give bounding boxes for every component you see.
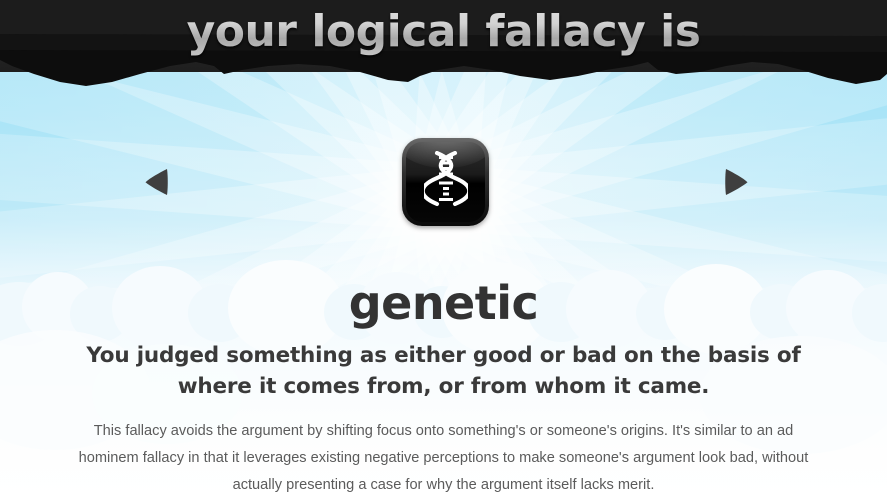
fallacy-card: your logical fallacy is (0, 0, 887, 498)
header-banner: your logical fallacy is (0, 0, 887, 90)
fallacy-description: You judged something as either good or b… (59, 340, 829, 402)
fallacy-badge[interactable] (402, 138, 489, 226)
badge-frame (402, 138, 489, 226)
badge-face (406, 142, 485, 222)
rock-torn-edge (0, 0, 887, 90)
next-fallacy-button[interactable] (719, 168, 753, 200)
triangle-left-icon (144, 168, 170, 201)
fallacy-name: genetic (0, 272, 887, 334)
dna-helix-icon (424, 151, 468, 214)
prev-fallacy-button[interactable] (140, 168, 174, 200)
fallacy-text-block: genetic You judged something as either g… (0, 272, 887, 498)
fallacy-body-text: This fallacy avoids the argument by shif… (64, 418, 824, 498)
triangle-right-icon (723, 168, 749, 201)
